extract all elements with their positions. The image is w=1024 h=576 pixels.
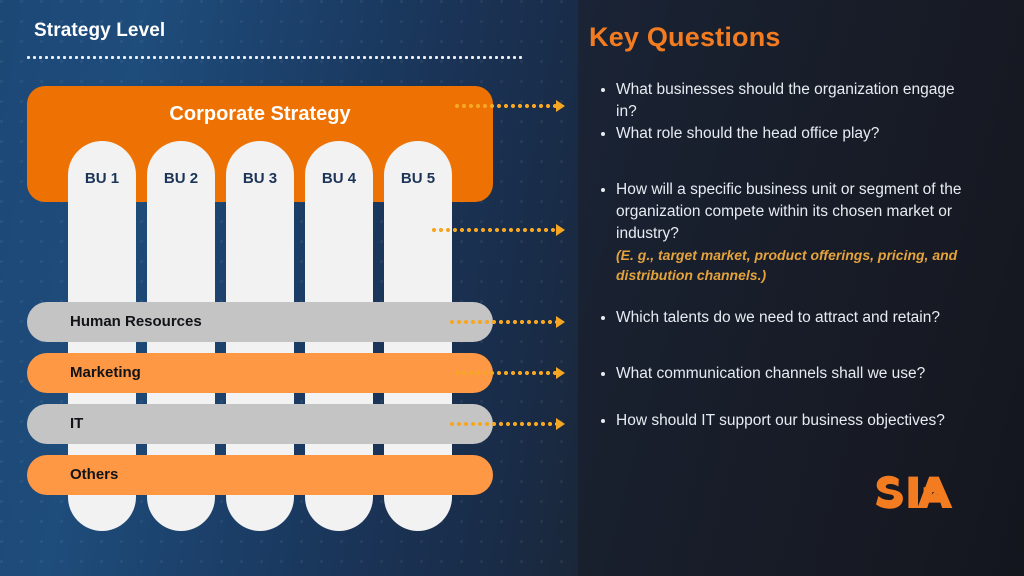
- arrow-head-icon: [556, 224, 565, 236]
- question-text: How will a specific business unit or seg…: [616, 181, 961, 242]
- arrow-dots: [432, 228, 556, 232]
- question-item: Which talents do we need to attract and …: [598, 307, 978, 329]
- question-text: Which talents do we need to attract and …: [616, 309, 940, 326]
- bullet-icon: [601, 132, 605, 136]
- function-bar-marketing[interactable]: Marketing: [27, 353, 493, 393]
- function-bar-label: IT: [70, 415, 83, 432]
- question-item: How should IT support our business objec…: [598, 410, 978, 432]
- question-note: (E. g., target market, product offerings…: [598, 245, 978, 285]
- function-bar-others[interactable]: Others: [27, 455, 493, 495]
- slide-canvas: Strategy Level Corporate Strategy BU 1 B…: [0, 0, 1024, 576]
- arrow-dots: [455, 371, 556, 375]
- question-group-marketing: What communication channels shall we use…: [598, 363, 978, 385]
- connector-arrow-it: [450, 418, 568, 430]
- connector-arrow-marketing: [455, 367, 568, 379]
- arrow-dots: [455, 104, 556, 108]
- function-bar-label: Others: [70, 466, 118, 483]
- corporate-strategy-label: Corporate Strategy: [27, 103, 493, 126]
- connector-arrow-human-resources: [450, 316, 568, 328]
- bullet-icon: [601, 88, 605, 92]
- key-questions-title: Key Questions: [589, 22, 781, 53]
- bullet-icon: [601, 316, 605, 320]
- function-bar-label: Human Resources: [70, 313, 202, 330]
- business-unit-label: BU 1: [68, 170, 136, 187]
- arrow-head-icon: [556, 316, 565, 328]
- function-bar-label: Marketing: [70, 364, 141, 381]
- question-item: What communication channels shall we use…: [598, 363, 978, 385]
- bullet-icon: [601, 372, 605, 376]
- function-bar-human-resources[interactable]: Human Resources: [27, 302, 493, 342]
- business-unit-label: BU 5: [384, 170, 452, 187]
- business-unit-label: BU 3: [226, 170, 294, 187]
- business-unit-label: BU 2: [147, 170, 215, 187]
- question-text: How should IT support our business objec…: [616, 412, 945, 429]
- arrow-head-icon: [556, 418, 565, 430]
- connector-arrow-business-unit: [432, 224, 568, 236]
- question-group-human-resources: Which talents do we need to attract and …: [598, 307, 978, 329]
- arrow-dots: [450, 422, 556, 426]
- bullet-icon: [601, 188, 605, 192]
- question-item: How will a specific business unit or seg…: [598, 179, 978, 245]
- connector-arrow-corporate: [455, 100, 568, 112]
- strategy-diagram: Corporate Strategy BU 1 BU 2 BU 3 BU 4 B…: [0, 0, 578, 576]
- question-text: What role should the head office play?: [616, 125, 879, 142]
- question-group-corporate: What businesses should the organization …: [598, 79, 978, 145]
- sia-logo: [876, 473, 968, 515]
- function-bar-it[interactable]: IT: [27, 404, 493, 444]
- question-text: What communication channels shall we use…: [616, 365, 925, 382]
- question-group-business-unit: How will a specific business unit or seg…: [598, 179, 978, 285]
- question-group-it: How should IT support our business objec…: [598, 410, 978, 432]
- question-text: What businesses should the organization …: [616, 81, 955, 120]
- business-unit-label: BU 4: [305, 170, 373, 187]
- arrow-dots: [450, 320, 556, 324]
- arrow-head-icon: [556, 367, 565, 379]
- question-item: What businesses should the organization …: [598, 79, 978, 123]
- bullet-icon: [601, 419, 605, 423]
- arrow-head-icon: [556, 100, 565, 112]
- question-item: What role should the head office play?: [598, 123, 978, 145]
